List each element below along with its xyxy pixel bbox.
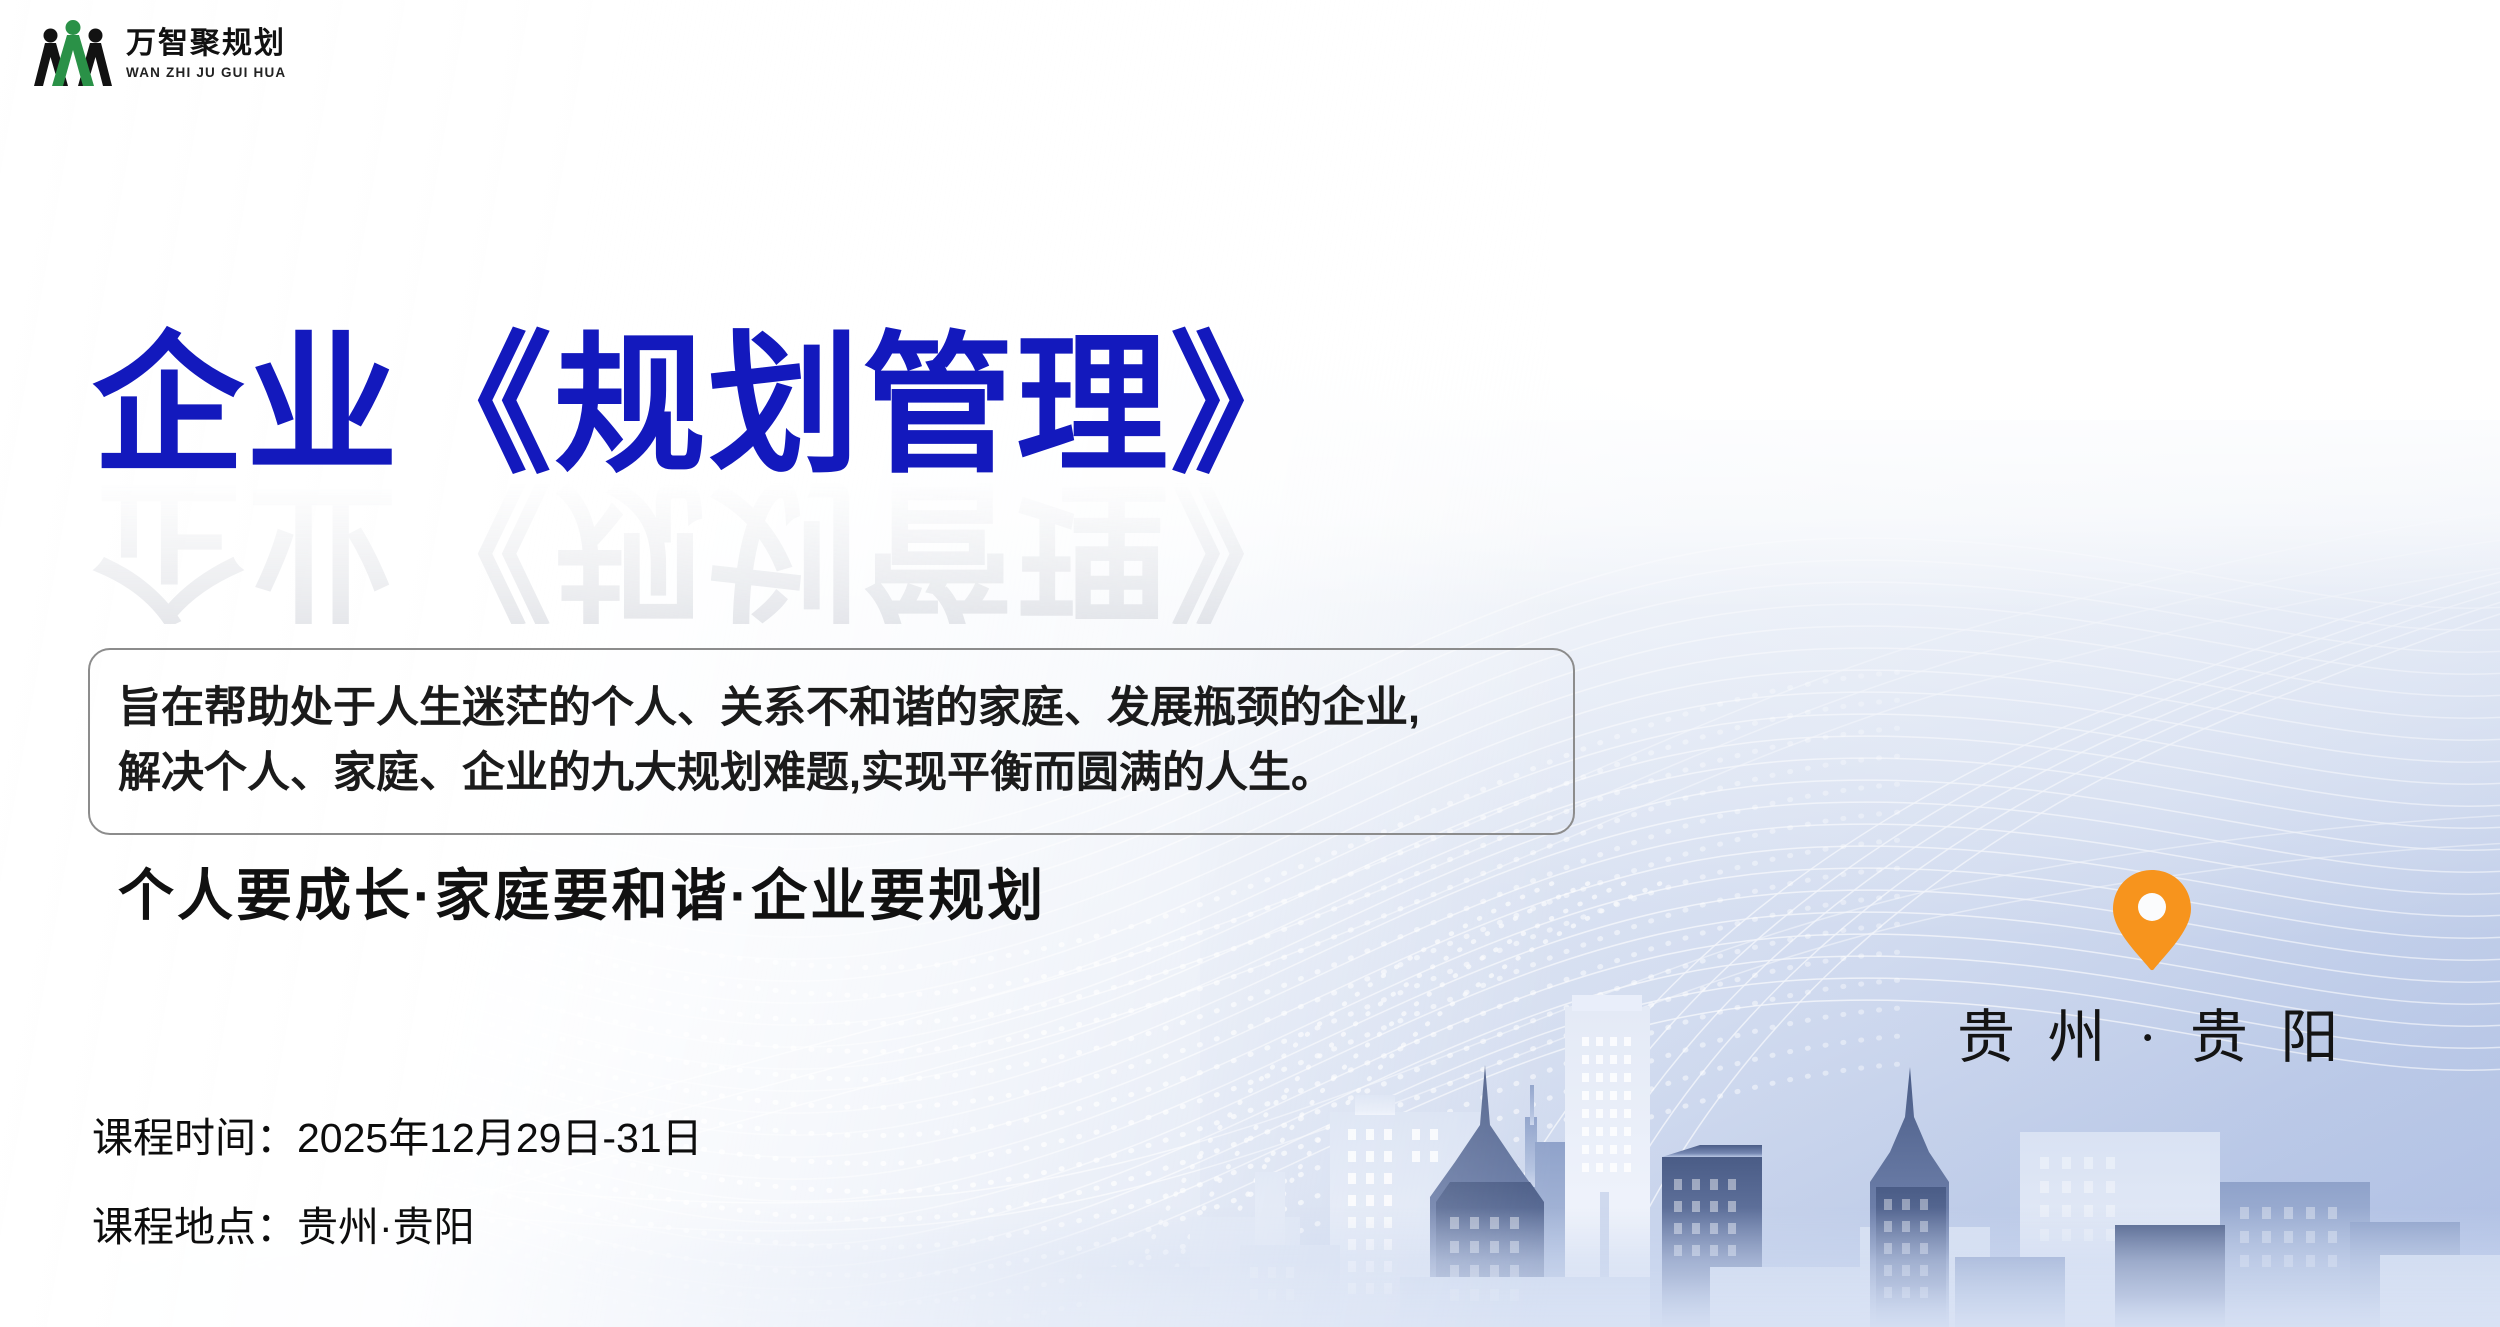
page-title-reflection: 企业《规划管理》	[92, 472, 1324, 624]
course-place: 课程地点：贵州·贵阳	[92, 1207, 703, 1248]
brand-name-pinyin: WAN ZHI JU GUI HUA	[126, 66, 286, 80]
poster-canvas: 万智聚规划 WAN ZHI JU GUI HUA 企业《规划管理》 企业《规划管…	[0, 0, 2500, 1327]
description-line-2: 解决个人、家庭、企业的九大规划难题,实现平衡而圆满的人生。	[118, 741, 1543, 806]
slogan-text: 个人要成长·家庭要和谐·企业要规划	[118, 851, 1046, 932]
course-info-block: 课程时间：2025年12月29日-31日 课程地点：贵州·贵阳	[92, 1118, 703, 1248]
location-badge: 贵 州 · 贵 阳	[1957, 868, 2347, 1074]
brand-logo: 万智聚规划 WAN ZHI JU GUI HUA	[34, 18, 286, 90]
course-time: 课程时间：2025年12月29日-31日	[92, 1118, 703, 1159]
page-title: 企业《规划管理》	[92, 330, 1324, 482]
description-box: 旨在帮助处于人生迷茫的个人、关系不和谐的家庭、发展瓶颈的企业, 解决个人、家庭、…	[88, 648, 1575, 835]
three-people-logo-icon	[34, 18, 112, 90]
location-pin-icon	[2110, 868, 2194, 972]
brand-name-cn: 万智聚规划	[126, 29, 286, 59]
headline-block: 企业《规划管理》 企业《规划管理》	[92, 330, 1324, 624]
description-line-1: 旨在帮助处于人生迷茫的个人、关系不和谐的家庭、发展瓶颈的企业,	[118, 676, 1543, 741]
location-label: 贵 州 · 贵 阳	[1957, 990, 2347, 1074]
